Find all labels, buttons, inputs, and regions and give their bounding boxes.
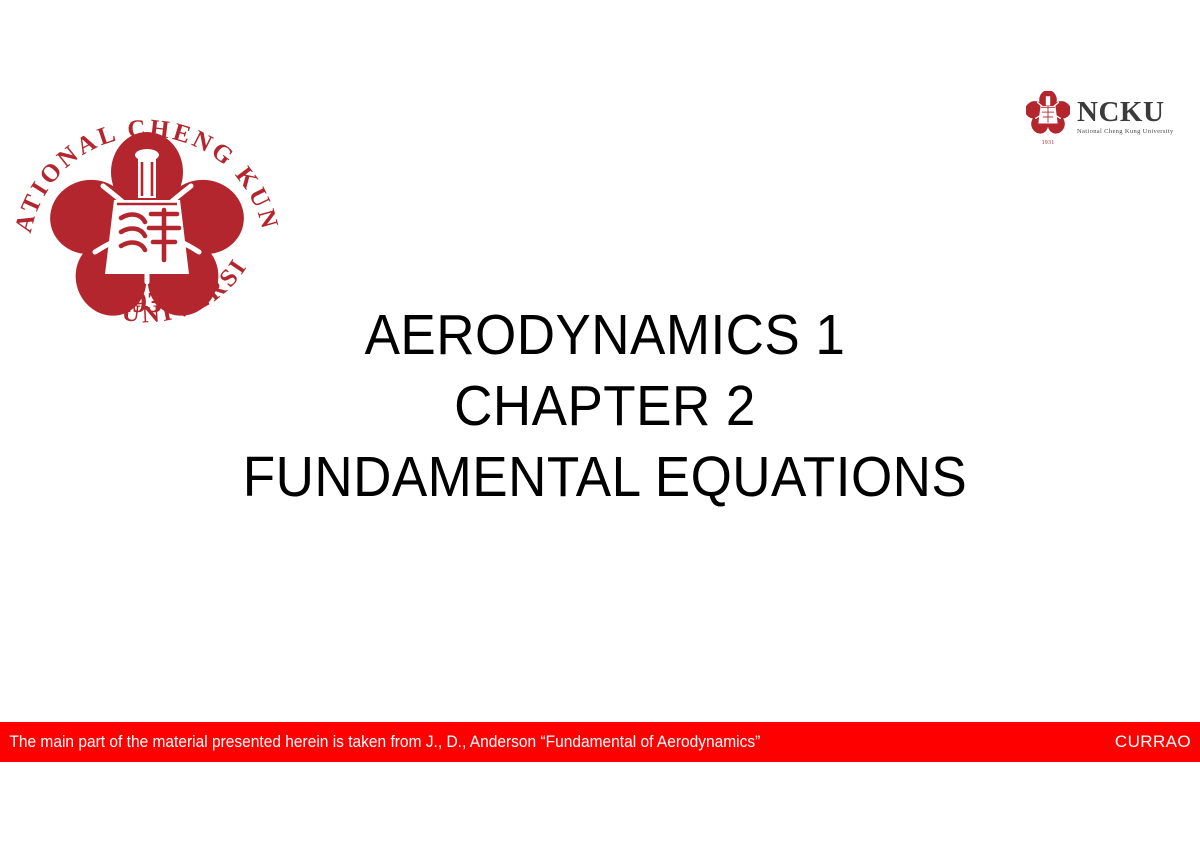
credit-source-text: The main part of the material presented … — [0, 732, 760, 752]
ncku-full-name: National Cheng Kung University — [1077, 127, 1174, 136]
credit-banner: The main part of the material presented … — [0, 722, 1200, 762]
author-label: CURRAO — [1115, 732, 1200, 752]
title-line-1: AERODYNAMICS 1 — [210, 300, 1001, 371]
ncku-wordmark: NCKU National Cheng Kung University — [1077, 97, 1174, 142]
seal-year: 1931 — [117, 286, 177, 319]
ncku-acronym: NCKU — [1077, 97, 1174, 127]
slide-title: AERODYNAMICS 1 CHAPTER 2 FUNDAMENTAL EQU… — [180, 300, 1030, 513]
slide-canvas: NATIONAL CHENG KUNG UNIVERSITY — [0, 0, 1200, 849]
title-line-2: CHAPTER 2 — [210, 371, 1001, 442]
ncku-logo: 1931 NCKU National Cheng Kung University — [1026, 88, 1192, 150]
ncku-plum-blossom-icon: 1931 — [1026, 91, 1070, 147]
ncku-mark-year: 1931 — [1026, 139, 1070, 147]
title-line-3: FUNDAMENTAL EQUATIONS — [210, 442, 1001, 513]
